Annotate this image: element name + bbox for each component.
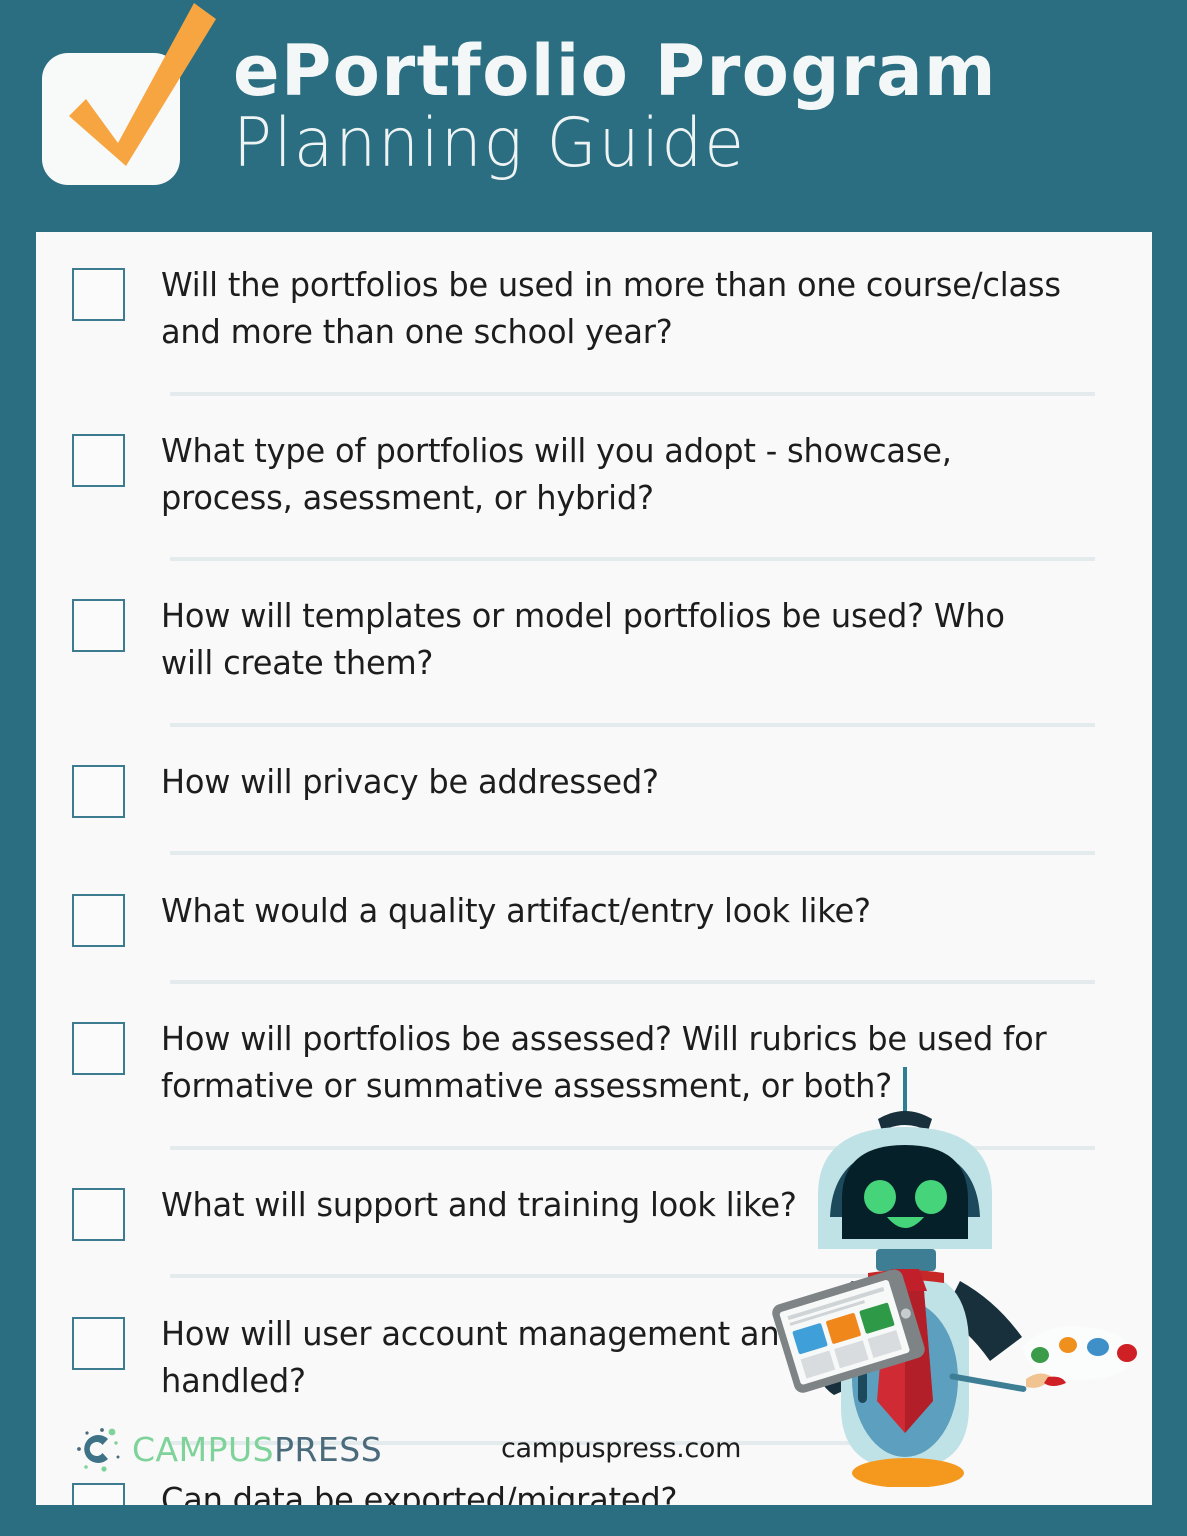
campuspress-c-icon [74, 1423, 126, 1475]
checklist-item-label: What will support and training look like… [161, 1182, 797, 1229]
checkbox-4[interactable] [72, 765, 125, 818]
checklist-item-label: How will user account management and log… [161, 1311, 1063, 1405]
card-footer: CAMPUSPRESS campuspress.com [36, 1405, 1152, 1505]
poster-header: ePortfolio Program Planning Guide [0, 0, 1187, 232]
checklist-item-label: How will templates or model portfolios b… [161, 593, 1063, 687]
orange-check-icon [56, 21, 226, 191]
checklist-item[interactable]: How will templates or model portfolios b… [36, 561, 1152, 687]
checklist-item-label: What type of portfolios will you adopt -… [161, 428, 1063, 522]
checkbox-3[interactable] [72, 599, 125, 652]
checkbox-7[interactable] [72, 1188, 125, 1241]
checkbox-5[interactable] [72, 894, 125, 947]
checklist-item[interactable]: How will user account management and log… [36, 1278, 1152, 1405]
checkbox-1[interactable] [72, 268, 125, 321]
website-url[interactable]: campuspress.com [501, 1433, 741, 1464]
checklist-item[interactable]: How will privacy be addressed? [36, 727, 1152, 818]
page-subtitle: Planning Guide [233, 106, 1088, 182]
checkbox-2[interactable] [72, 434, 125, 487]
checklist-item[interactable]: Will the portfolios be used in more than… [36, 232, 1152, 356]
checklist-item-label: Will the portfolios be used in more than… [161, 262, 1063, 356]
checklist-item[interactable]: How will portfolios be assessed? Will ru… [36, 984, 1152, 1110]
checklist-item[interactable]: What would a quality artifact/entry look… [36, 855, 1152, 947]
wordmark-press: PRESS [274, 1430, 382, 1469]
campuspress-logo[interactable]: CAMPUSPRESS [74, 1423, 382, 1475]
checkbox-6[interactable] [72, 1022, 125, 1075]
checklist-item[interactable]: What type of portfolios will you adopt -… [36, 396, 1152, 522]
checklist: Will the portfolios be used in more than… [36, 232, 1152, 1505]
checkbox-8[interactable] [72, 1317, 125, 1370]
campuspress-wordmark: CAMPUSPRESS [132, 1430, 382, 1469]
page-title: ePortfolio Program [233, 36, 1115, 106]
wordmark-campus: CAMPUS [132, 1430, 274, 1469]
poster: ePortfolio Program Planning Guide Will t… [0, 0, 1187, 1536]
title-block: ePortfolio Program Planning Guide [233, 36, 1133, 182]
checklist-item-label: How will portfolios be assessed? Will ru… [161, 1016, 1063, 1110]
checklist-card: Will the portfolios be used in more than… [36, 232, 1152, 1505]
checklist-item-label: How will privacy be addressed? [161, 759, 659, 806]
checklist-item[interactable]: What will support and training look like… [36, 1150, 1152, 1241]
checklist-item-label: What would a quality artifact/entry look… [161, 888, 871, 935]
checkmark-box-icon [42, 53, 180, 185]
